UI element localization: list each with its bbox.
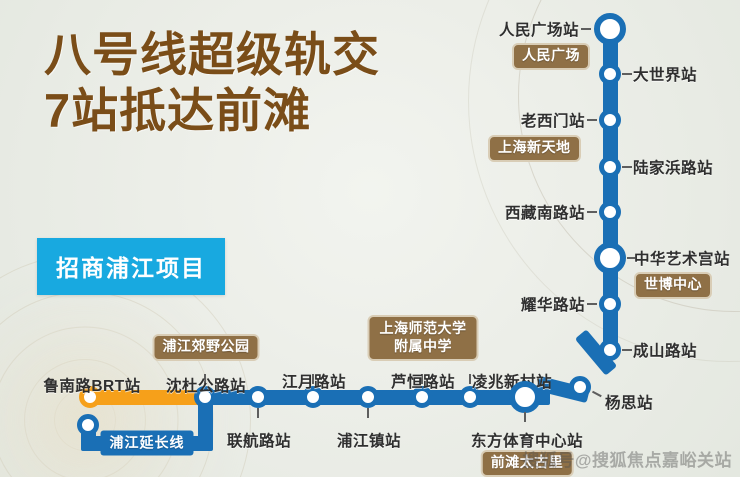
headline: 八号线超级轨交 7站抵达前滩	[44, 30, 380, 136]
tick-chengshanlu	[622, 349, 632, 351]
station-dot-chengshanlu[interactable]	[599, 339, 621, 361]
tick-lianhanglu	[257, 408, 259, 418]
watermark: 搜狐号@搜狐焦点嘉峪关站	[522, 446, 732, 471]
tick-yaohualu	[587, 303, 597, 305]
poi-badge-shibo: 世博中心	[634, 272, 712, 299]
station-dot-branch-terminus[interactable]	[77, 414, 99, 436]
tick-pujiangzhen	[367, 408, 369, 418]
station-dot-pujiangzhen[interactable]	[357, 386, 379, 408]
station-dot-yangsi[interactable]	[569, 376, 591, 398]
metro-line-infographic: 八号线超级轨交 7站抵达前滩 招商浦江项目 人民广场站 人民广场 大世界站 老西…	[0, 0, 740, 477]
station-label-zhonghuayishugong: 中华艺术宫站	[634, 247, 730, 269]
tick-dashijie	[622, 73, 632, 75]
poi-badge-jiaoye-gongyuan: 浦江郊野公园	[153, 334, 260, 361]
station-label-yangsi: 杨思站	[605, 391, 653, 413]
station-label-lunanlu-brt: 鲁南路BRT站	[43, 374, 140, 396]
station-dot-lianhanglu[interactable]	[247, 386, 269, 408]
tick-xizangnanlu	[587, 211, 597, 213]
poi-badge-line2: 附属中学	[380, 338, 467, 356]
poi-badge-xintiandi: 上海新天地	[488, 135, 581, 162]
station-label-renmin-guangchang: 人民广场站	[499, 18, 579, 40]
station-label-luhenglu: 芦恒路站	[391, 370, 455, 392]
station-label-laoximen: 老西门站	[521, 109, 585, 131]
headline-line1: 八号线超级轨交	[44, 30, 380, 80]
station-label-shendugonglu: 沈杜公路站	[166, 374, 246, 396]
tick-laoximen	[587, 119, 597, 121]
branch-line-label: 浦江延长线	[101, 431, 194, 456]
headline-line2: 7站抵达前滩	[44, 86, 380, 136]
station-dot-zhonghuayishugong[interactable]	[594, 242, 626, 274]
station-dot-laoximen[interactable]	[599, 109, 621, 131]
station-label-jiangyuelu: 江月路站	[282, 370, 346, 392]
station-dot-dashijie[interactable]	[599, 63, 621, 85]
tick-renmin-guangchang	[581, 28, 591, 30]
tick-lujiabang	[622, 166, 632, 168]
station-label-dashijie: 大世界站	[633, 63, 697, 85]
poi-badge-shishida-fushu: 上海师范大学 附属中学	[368, 315, 479, 361]
station-dot-dongfangtiyuzhongxin[interactable]	[509, 381, 541, 413]
station-dot-xizangnanlu[interactable]	[599, 201, 621, 223]
poi-badge-line1: 上海师范大学	[380, 320, 467, 338]
station-label-xizangnanlu: 西藏南路站	[505, 201, 585, 223]
tick-dongfangtiyuzhongxin	[524, 412, 526, 422]
project-badge[interactable]: 招商浦江项目	[37, 238, 225, 295]
station-dot-renmin-guangchang[interactable]	[594, 13, 626, 45]
station-label-lianhanglu: 联航路站	[227, 429, 291, 451]
station-dot-yaohualu[interactable]	[599, 293, 621, 315]
tick-yangsi	[592, 391, 602, 397]
station-label-pujiangzhen: 浦江镇站	[337, 429, 401, 451]
station-label-chengshanlu: 成山路站	[633, 339, 697, 361]
station-label-lujiabang: 陆家浜路站	[633, 156, 713, 178]
tick-lingzhaoxincun	[469, 374, 471, 384]
station-dot-lujiabang[interactable]	[599, 156, 621, 178]
poi-badge-renmin-guangchang: 人民广场	[512, 43, 590, 70]
station-label-yaohualu: 耀华路站	[521, 293, 585, 315]
